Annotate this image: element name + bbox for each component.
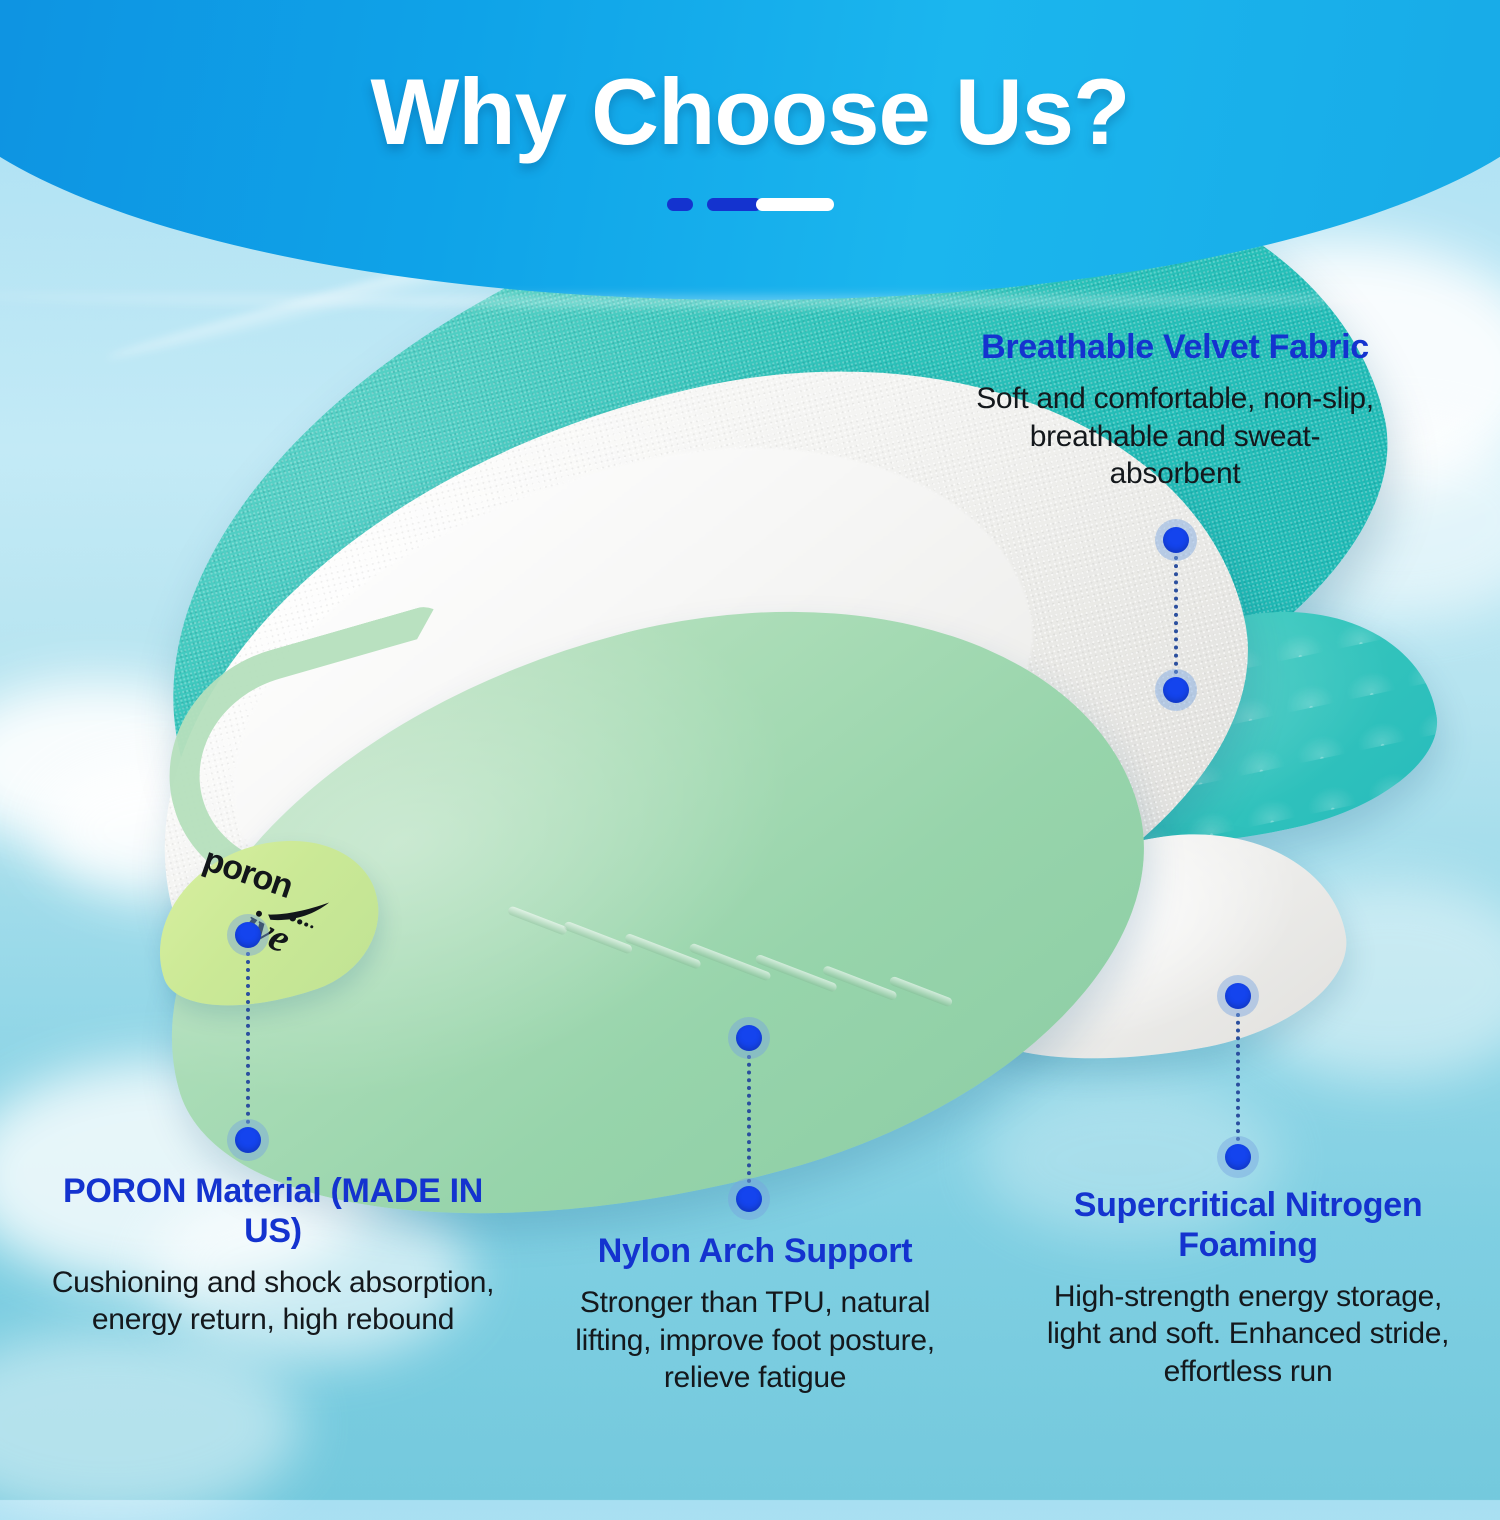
callout-supercritical-nitrogen-foaming: Supercritical Nitrogen Foaming High-stre…	[1032, 1186, 1464, 1391]
callout-body: Soft and comfortable, non-slip, breathab…	[966, 380, 1384, 493]
marker-poron-product[interactable]	[227, 914, 269, 956]
callout-title: Nylon Arch Support	[540, 1232, 970, 1272]
connector-poron	[246, 952, 250, 1124]
callout-body: High-strength energy storage, light and …	[1032, 1278, 1464, 1391]
marker-nitrogen-product[interactable]	[1217, 975, 1259, 1017]
marker-velvet-product[interactable]	[1155, 669, 1197, 711]
marker-velvet-label[interactable]	[1155, 519, 1197, 561]
marker-poron-label[interactable]	[227, 1119, 269, 1161]
callout-nylon-arch-support: Nylon Arch Support Stronger than TPU, na…	[540, 1232, 970, 1397]
header-dash-row	[0, 198, 1500, 211]
page-title: Why Choose Us?	[0, 58, 1500, 166]
marker-nitrogen-label[interactable]	[1217, 1136, 1259, 1178]
marker-nylon-product[interactable]	[728, 1017, 770, 1059]
callout-title: Supercritical Nitrogen Foaming	[1032, 1186, 1464, 1266]
marker-nylon-label[interactable]	[728, 1178, 770, 1220]
dash-small-icon	[667, 198, 693, 211]
callout-breathable-velvet-fabric: Breathable Velvet Fabric Soft and comfor…	[966, 328, 1384, 493]
callout-body: Cushioning and shock absorption, energy …	[48, 1264, 498, 1340]
callout-poron-material: PORON Material (MADE IN US) Cushioning a…	[48, 1172, 498, 1339]
callout-body: Stronger than TPU, natural lifting, impr…	[540, 1284, 970, 1397]
dash-long-icon	[756, 198, 834, 211]
callout-title: Breathable Velvet Fabric	[966, 328, 1384, 368]
connector-nitrogen	[1236, 1013, 1240, 1141]
connector-nylon	[747, 1055, 751, 1183]
dash-medium-icon	[707, 198, 762, 211]
callout-title: PORON Material (MADE IN US)	[48, 1172, 498, 1252]
connector-velvet	[1174, 556, 1178, 674]
